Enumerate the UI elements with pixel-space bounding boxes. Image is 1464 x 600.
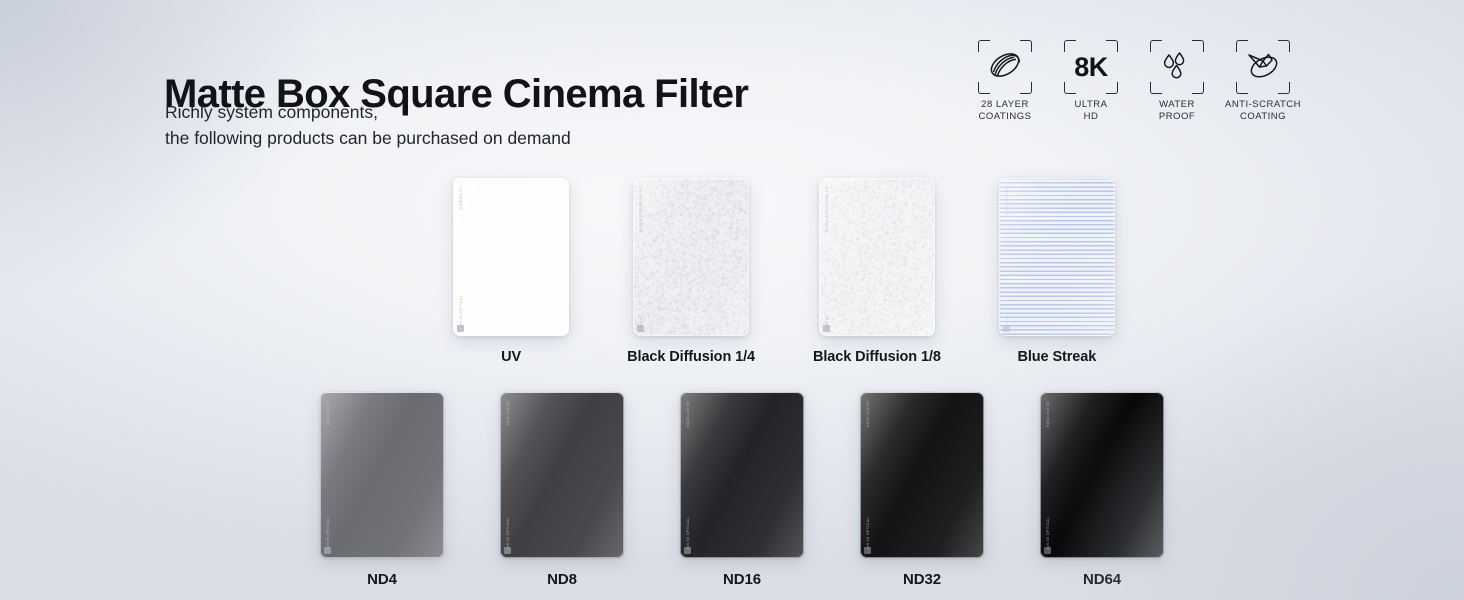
filter-engraving-top: ND4 4x5.65" — [326, 400, 330, 425]
filter-label: ND16 — [723, 571, 761, 588]
feature-badge-anti-scratch-coating: ANTI-SCRATCH COATING — [1220, 40, 1306, 123]
filter-label: ND8 — [547, 571, 577, 588]
product-banner: Matte Box Square Cinema Filter Richly sy… — [0, 0, 1464, 600]
water-droplets-icon — [1160, 49, 1194, 86]
filter-glass: ND4 4x5.65" 4x5.65 OPTICAL — [320, 392, 444, 558]
filter-engraving-top: ND32 4x5.65" — [866, 400, 870, 427]
filter-engraving-bottom: 4x5.65 OPTICAL — [866, 517, 870, 550]
brand-logo-chip — [1003, 325, 1010, 332]
brand-logo-chip — [864, 547, 871, 554]
brand-logo-chip — [457, 325, 464, 332]
brand-logo-chip — [504, 547, 511, 554]
filter-engraving-top: BLACK DIFFUSION 1/4 — [639, 186, 643, 232]
lens-coating-layers-icon — [985, 48, 1025, 87]
anti-scratch-blade-icon — [1243, 48, 1283, 87]
filter-glass: ND32 4x5.65" 4x5.65 OPTICAL — [860, 392, 984, 558]
subtitle-line-2: the following products can be purchased … — [165, 126, 571, 152]
filter-engraving-top: CINEMA UV — [459, 186, 463, 209]
badge-caption: WATER PROOF — [1159, 99, 1195, 123]
filter-item-black-diffusion-1-8[interactable]: BLACK DIFFUSION 1/8 4x5.65 Black Diffusi… — [813, 178, 941, 365]
badge-frame — [1150, 40, 1204, 94]
filter-engraving-bottom: 4x5.65 OPTICAL — [686, 517, 690, 550]
filter-glass: BLACK DIFFUSION 1/4 4x5.65 — [633, 178, 749, 336]
filter-item-nd4[interactable]: ND4 4x5.65" 4x5.65 OPTICAL ND4 — [320, 392, 444, 588]
brand-logo-chip — [637, 325, 644, 332]
subtitle: Richly system components, the following … — [165, 100, 571, 152]
filter-item-blue-streak[interactable]: BLUE STREAK 4x5.65 Blue Streak — [999, 178, 1115, 365]
filter-label: Black Diffusion 1/8 — [813, 349, 941, 365]
filter-glass: ND8 4x5.65" 4x5.65 OPTICAL — [500, 392, 624, 558]
8k-text-icon: 8K — [1074, 52, 1108, 83]
filter-item-black-diffusion-1-4[interactable]: BLACK DIFFUSION 1/4 4x5.65 Black Diffusi… — [627, 178, 755, 365]
filter-engraving-bottom: 4x5.65 OPTICAL — [1046, 517, 1050, 550]
filter-label: Blue Streak — [1018, 349, 1097, 365]
filter-glass: CINEMA UV 4x5.65 OPTICAL — [453, 178, 569, 336]
filter-engraving-top: BLUE STREAK — [1005, 186, 1009, 215]
filter-item-nd64[interactable]: ND64 4x5.65" 4x5.65 OPTICAL ND64 — [1040, 392, 1164, 588]
filter-row-nd: ND4 4x5.65" 4x5.65 OPTICAL ND4 ND8 4x5.6… — [0, 392, 1464, 588]
filter-engraving-top: ND16 4x5.65" — [686, 400, 690, 427]
filter-glass: BLUE STREAK 4x5.65 — [999, 178, 1115, 336]
filter-glass: BLACK DIFFUSION 1/8 4x5.65 — [819, 178, 935, 336]
filter-glass: ND16 4x5.65" 4x5.65 OPTICAL — [680, 392, 804, 558]
feature-badge-water-proof: WATER PROOF — [1134, 40, 1220, 123]
filter-label: ND64 — [1083, 571, 1121, 588]
badge-frame — [978, 40, 1032, 94]
brand-logo-chip — [1044, 547, 1051, 554]
badge-caption: ANTI-SCRATCH COATING — [1225, 99, 1301, 123]
filter-engraving-bottom: 4x5.65 OPTICAL — [459, 295, 463, 328]
filter-engraving-bottom: 4x5.65 OPTICAL — [506, 517, 510, 550]
filter-glass: ND64 4x5.65" 4x5.65 OPTICAL — [1040, 392, 1164, 558]
filter-label: ND4 — [367, 571, 397, 588]
filter-label: Black Diffusion 1/4 — [627, 349, 755, 365]
filter-item-uv[interactable]: CINEMA UV 4x5.65 OPTICAL UV — [453, 178, 569, 365]
feature-badge-28-layer-coatings: 28 LAYER COATINGS — [962, 40, 1048, 123]
filter-engraving-top: ND64 4x5.65" — [1046, 400, 1050, 427]
filter-item-nd16[interactable]: ND16 4x5.65" 4x5.65 OPTICAL ND16 — [680, 392, 804, 588]
badge-frame: 8K — [1064, 40, 1118, 94]
badge-caption: 28 LAYER COATINGS — [979, 99, 1032, 123]
brand-logo-chip — [684, 547, 691, 554]
badge-frame — [1236, 40, 1290, 94]
brand-logo-chip — [324, 547, 331, 554]
filter-row-clear-and-diffusion: CINEMA UV 4x5.65 OPTICAL UV BLACK DIFFUS… — [0, 178, 1464, 365]
filter-engraving-top: ND8 4x5.65" — [506, 400, 510, 425]
filter-label: ND32 — [903, 571, 941, 588]
feature-badge-8k-ultra-hd: 8K ULTRA HD — [1048, 40, 1134, 123]
filter-label: UV — [501, 349, 521, 365]
filter-item-nd32[interactable]: ND32 4x5.65" 4x5.65 OPTICAL ND32 — [860, 392, 984, 588]
brand-logo-chip — [823, 325, 830, 332]
filter-engraving-bottom: 4x5.65 OPTICAL — [326, 517, 330, 550]
feature-badge-list: 28 LAYER COATINGS 8K ULTRA HD — [962, 40, 1306, 123]
filter-item-nd8[interactable]: ND8 4x5.65" 4x5.65 OPTICAL ND8 — [500, 392, 624, 588]
badge-caption: ULTRA HD — [1075, 99, 1108, 123]
subtitle-line-1: Richly system components, — [165, 100, 571, 126]
filter-engraving-top: BLACK DIFFUSION 1/8 — [825, 186, 829, 232]
